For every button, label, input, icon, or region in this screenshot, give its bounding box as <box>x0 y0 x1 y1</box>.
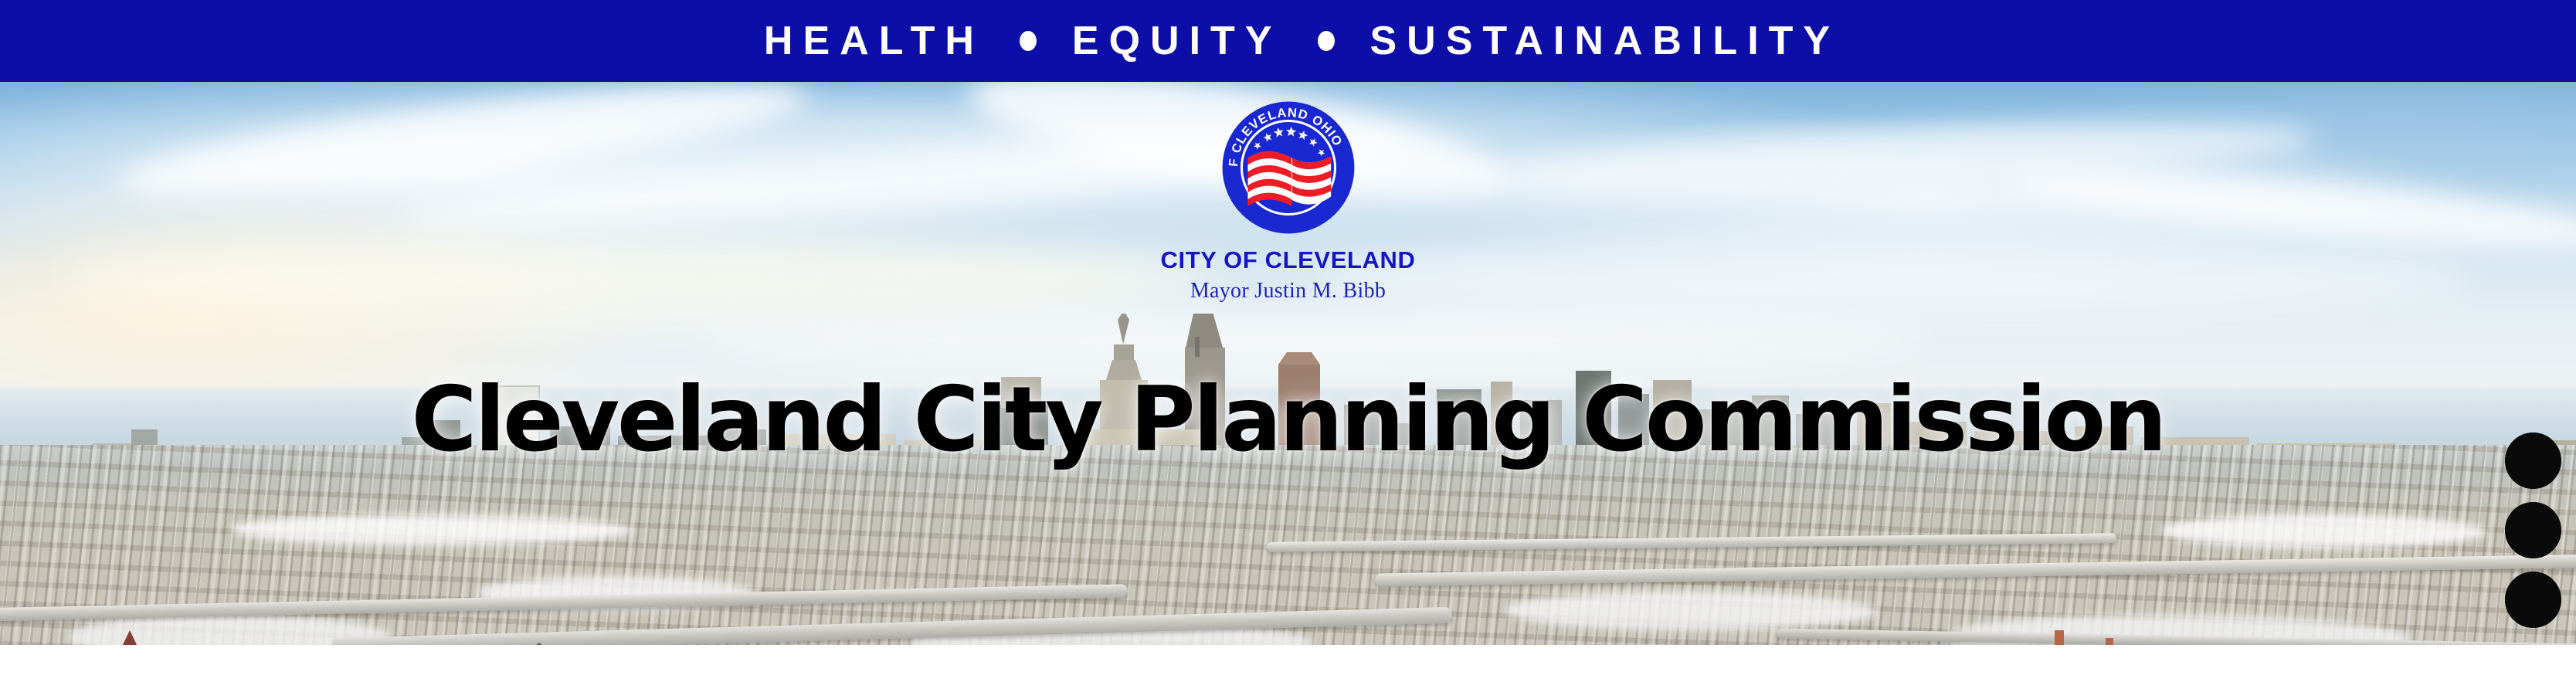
branding-block: CITY OF CLEVELAND OHIO <box>0 82 2576 304</box>
bullet-dot-icon <box>1020 31 1037 51</box>
tagline-group: HEALTH EQUITY SUSTAINABILITY <box>764 21 1840 61</box>
tagline-word-equity: EQUITY <box>1072 21 1282 61</box>
neighborhood-buildings <box>0 514 2576 645</box>
tagline-banner: HEALTH EQUITY SUSTAINABILITY <box>0 0 2576 82</box>
page-root: CITY OF CLEVELAND OHIO <box>0 0 2576 682</box>
youtube-icon[interactable] <box>2505 433 2561 489</box>
facebook-icon[interactable] <box>2505 572 2561 628</box>
mayor-name: Mayor Justin M. Bibb <box>1190 279 1386 304</box>
bullet-dot-icon <box>1318 31 1335 51</box>
bottom-whitespace <box>0 645 2576 682</box>
organization-name: CITY OF CLEVELAND <box>1161 246 1416 274</box>
instagram-icon[interactable] <box>2505 502 2561 558</box>
tagline-word-sustainability: SUSTAINABILITY <box>1370 21 1841 61</box>
social-links <box>2505 433 2562 628</box>
city-of-cleveland-seal-icon: CITY OF CLEVELAND OHIO <box>1220 99 1357 236</box>
page-title: Cleveland City Planning Commission <box>0 375 2576 465</box>
tagline-word-health: HEALTH <box>764 21 984 61</box>
